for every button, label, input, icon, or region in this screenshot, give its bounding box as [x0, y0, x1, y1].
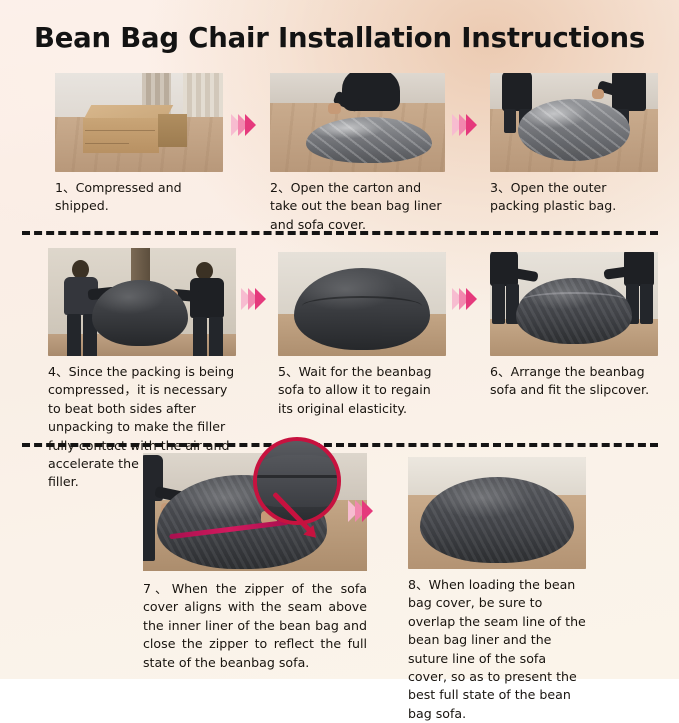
step-8-caption: 8、When loading the bean bag cover, be su…	[408, 576, 586, 723]
arrow-step5-to-step6	[452, 288, 477, 310]
page-title: Bean Bag Chair Installation Instructions	[0, 22, 679, 54]
step-3-caption: 3、Open the outer packing plastic bag.	[490, 179, 658, 216]
step-7-image	[143, 453, 367, 571]
step-1: 1、Compressed and shipped.	[55, 73, 223, 216]
arrow-step4-to-step5	[241, 288, 266, 310]
arrow-step7-to-step8	[348, 500, 373, 522]
arrow-step1-to-step2	[231, 114, 256, 136]
step-6: 6、Arrange the beanbag sofa and fit the s…	[490, 252, 658, 400]
step-2-caption: 2、Open the carton and take out the bean …	[270, 179, 445, 234]
step-3: 3、Open the outer packing plastic bag.	[490, 73, 658, 216]
step-6-caption: 6、Arrange the beanbag sofa and fit the s…	[490, 363, 658, 400]
step-7-caption: 7、When the zipper of the sofa cover alig…	[143, 580, 367, 672]
step-1-image	[55, 73, 223, 172]
step-8: 8、When loading the bean bag cover, be su…	[408, 457, 586, 723]
step-1-caption: 1、Compressed and shipped.	[55, 179, 223, 216]
arrow-step2-to-step3	[452, 114, 477, 136]
step-8-image	[408, 457, 586, 569]
step-2-image	[270, 73, 445, 172]
step-6-image	[490, 252, 658, 356]
step-2: 2、Open the carton and take out the bean …	[270, 73, 445, 234]
step-4-image	[48, 248, 236, 356]
infographic-page: Bean Bag Chair Installation Instructions…	[0, 0, 679, 679]
step-3-image	[490, 73, 658, 172]
step-5: 5、Wait for the beanbag sofa to allow it …	[278, 252, 446, 418]
step-7: 7、When the zipper of the sofa cover alig…	[143, 453, 367, 672]
zipper-detail-callout	[253, 437, 341, 525]
step-5-caption: 5、Wait for the beanbag sofa to allow it …	[278, 363, 446, 418]
step-5-image	[278, 252, 446, 356]
